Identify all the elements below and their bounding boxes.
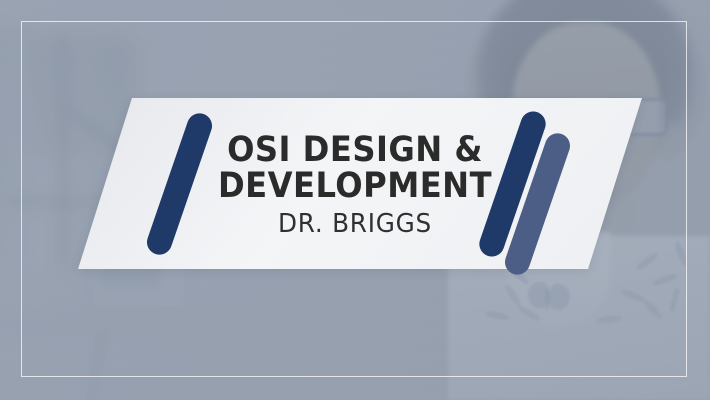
title-slide: OSI DESIGN & DEVELOPMENT DR. BRIGGS [0, 0, 710, 400]
page-title: OSI DESIGN & DEVELOPMENT [203, 132, 507, 204]
presenter-name: DR. BRIGGS [198, 210, 512, 238]
page-title-line-2: DEVELOPMENT [203, 168, 507, 204]
page-title-line-1: OSI DESIGN & [203, 132, 507, 168]
title-text-block: OSI DESIGN & DEVELOPMENT DR. BRIGGS [190, 132, 520, 238]
